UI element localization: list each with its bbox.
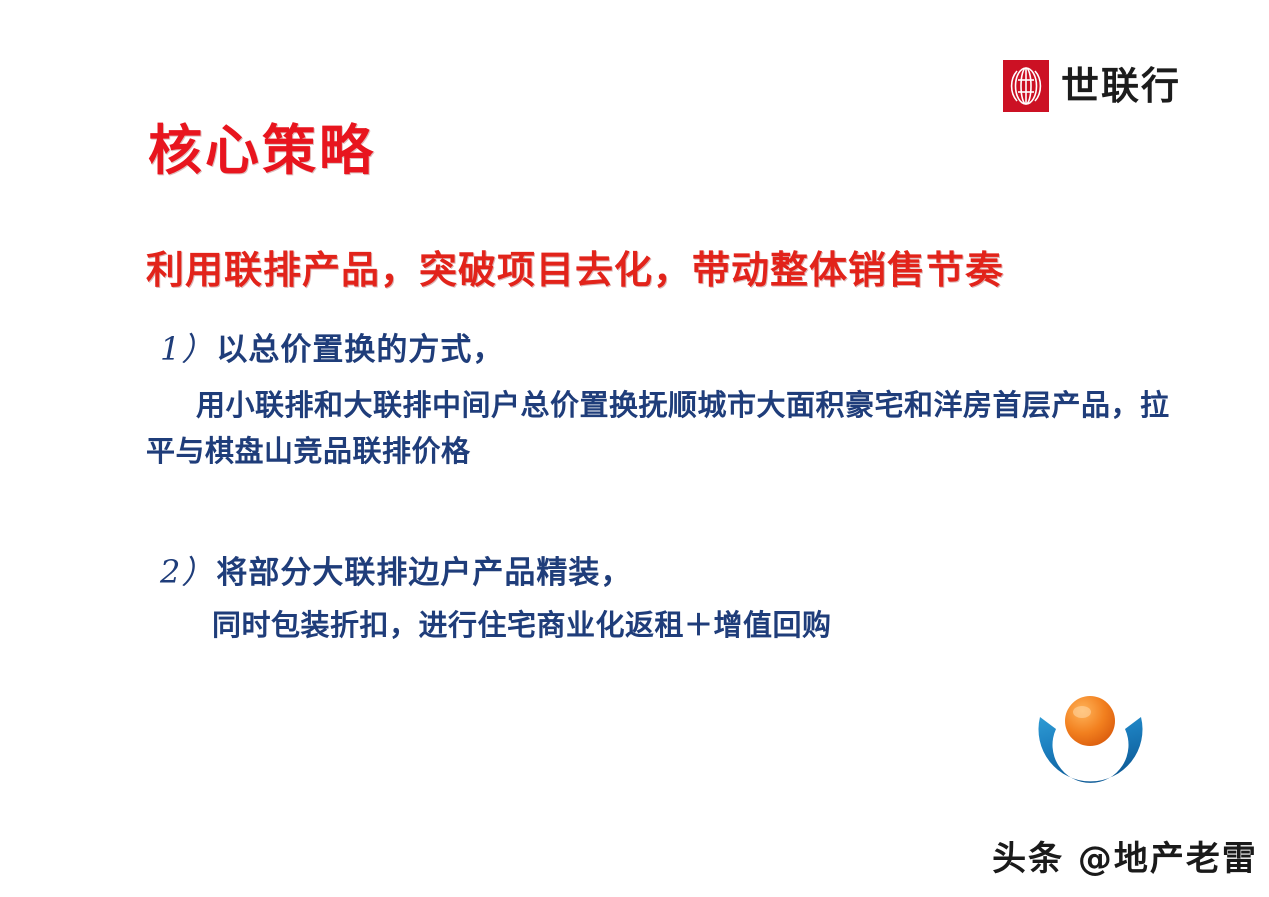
headline-text: 利用联排产品，突破项目去化，带动整体销售节奏: [146, 248, 1004, 294]
point-2-line-1: 同时包装折扣，进行住宅商业化返租＋增值回购: [212, 607, 832, 643]
slide-canvas: 世联行 核心策略 利用联排产品，突破项目去化，带动整体销售节奏 1）以总价置换的…: [0, 0, 1269, 897]
point-1-heading-text: 以总价置换的方式，: [216, 332, 504, 368]
watermark: 头条 @地产老雷: [985, 695, 1265, 890]
brand-name: 世联行: [1061, 67, 1181, 105]
point-1-heading: 1）以总价置换的方式，: [160, 330, 504, 369]
point-2-number: 2）: [160, 553, 216, 591]
point-2-heading-text: 将部分大联排边户产品精装，: [216, 555, 632, 591]
brand-logo: 世联行: [1003, 60, 1181, 112]
point-1-line-1: 用小联排和大联排中间户总价置换抚顺城市大面积豪宅和洋房首层产品，拉: [196, 387, 1170, 423]
toutiao-logo-icon: [1003, 695, 1178, 835]
point-1-line-2: 平与棋盘山竞品联排价格: [146, 433, 471, 469]
page-title: 核心策略: [148, 120, 376, 182]
point-2-heading: 2）将部分大联排边户产品精装，: [160, 553, 632, 592]
watermark-text: 头条 @地产老雷: [985, 831, 1265, 880]
globe-mark-icon: [1003, 60, 1049, 112]
point-1-number: 1）: [160, 330, 216, 368]
